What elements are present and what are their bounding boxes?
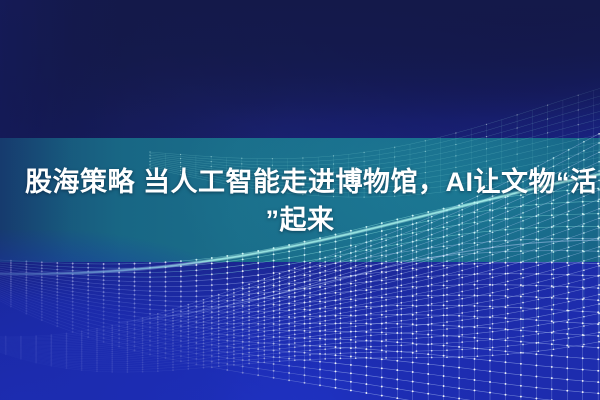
mesh-fade-bottom-left: [0, 230, 330, 400]
headline-line-2: ”起来: [18, 201, 582, 239]
headline-line-1: 股海策略 当人工智能走进博物馆，AI让文物“活: [18, 163, 582, 201]
article-banner: 股海策略 当人工智能走进博物馆，AI让文物“活 ”起来: [0, 0, 600, 400]
headline-text: 股海策略 当人工智能走进博物馆，AI让文物“活 ”起来: [0, 163, 600, 239]
